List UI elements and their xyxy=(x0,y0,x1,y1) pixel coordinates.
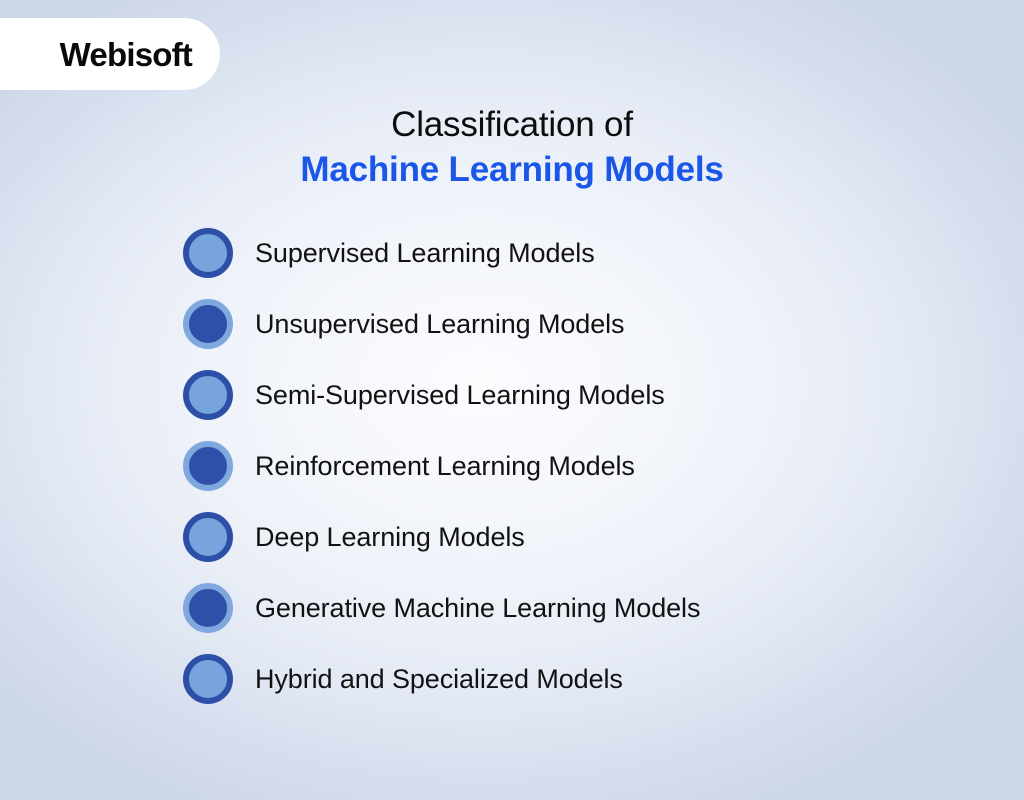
list-item-label: Semi-Supervised Learning Models xyxy=(255,378,665,412)
page-title: Classification of Machine Learning Model… xyxy=(0,103,1024,193)
list-item: Unsupervised Learning Models xyxy=(183,299,983,349)
bullet-circle-icon xyxy=(183,441,233,491)
list-item: Reinforcement Learning Models xyxy=(183,441,983,491)
list-item-label: Deep Learning Models xyxy=(255,520,525,554)
bullet-circle-icon xyxy=(183,228,233,278)
infographic-slide: Webisoft Classification of Machine Learn… xyxy=(0,0,1024,800)
list-item: Generative Machine Learning Models xyxy=(183,583,983,633)
list-item-label: Supervised Learning Models xyxy=(255,236,595,270)
list-item: Semi-Supervised Learning Models xyxy=(183,370,983,420)
list-item: Hybrid and Specialized Models xyxy=(183,654,983,704)
model-category-list: Supervised Learning ModelsUnsupervised L… xyxy=(183,228,983,725)
brand-logo: Webisoft xyxy=(0,18,220,90)
list-item-label: Generative Machine Learning Models xyxy=(255,591,700,625)
brand-logo-text: Webisoft xyxy=(60,38,192,71)
list-item-label: Unsupervised Learning Models xyxy=(255,307,624,341)
list-item: Deep Learning Models xyxy=(183,512,983,562)
bullet-circle-icon xyxy=(183,370,233,420)
bullet-circle-icon xyxy=(183,654,233,704)
list-item-label: Hybrid and Specialized Models xyxy=(255,662,623,696)
bullet-circle-icon xyxy=(183,299,233,349)
bullet-circle-icon xyxy=(183,583,233,633)
bullet-circle-icon xyxy=(183,512,233,562)
list-item: Supervised Learning Models xyxy=(183,228,983,278)
page-title-line-2: Machine Learning Models xyxy=(0,147,1024,193)
page-title-line-1: Classification of xyxy=(0,103,1024,147)
list-item-label: Reinforcement Learning Models xyxy=(255,449,635,483)
